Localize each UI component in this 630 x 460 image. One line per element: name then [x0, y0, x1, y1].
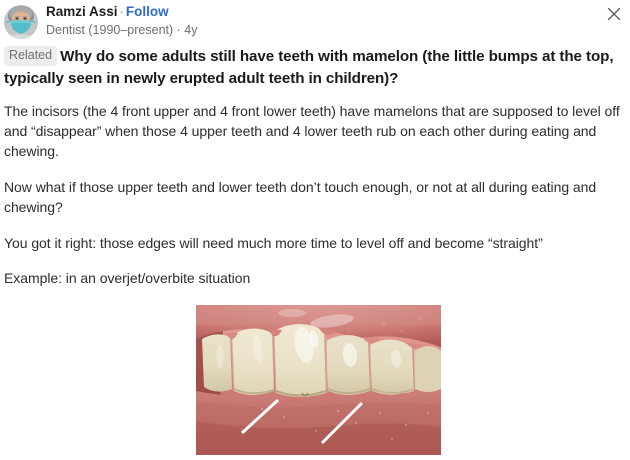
avatar[interactable]: [4, 5, 38, 39]
answer-content: RelatedWhy do some adults still have tee…: [0, 46, 630, 455]
name-separator: ·: [118, 4, 126, 19]
close-icon[interactable]: [606, 6, 622, 22]
author-name[interactable]: Ramzi Assi: [46, 4, 118, 19]
author-credential: Dentist (1990–present) · 4y: [46, 23, 197, 37]
question-title[interactable]: Why do some adults still have teeth with…: [4, 48, 613, 87]
name-line: Ramzi Assi·Follow: [46, 4, 197, 20]
photo-wrap: [4, 305, 624, 455]
question-block[interactable]: RelatedWhy do some adults still have tee…: [4, 46, 624, 89]
dental-photo[interactable]: [196, 305, 441, 455]
post-header: Ramzi Assi·Follow Dentist (1990–present)…: [0, 0, 630, 40]
quora-answer-card: Ramzi Assi·Follow Dentist (1990–present)…: [0, 0, 630, 460]
answer-paragraph-4: Example: in an overjet/overbite situatio…: [4, 269, 624, 289]
follow-link[interactable]: Follow: [126, 4, 169, 19]
related-badge: Related: [4, 46, 57, 66]
answer-paragraph-1: The incisors (the 4 front upper and 4 fr…: [4, 102, 624, 162]
answer-paragraph-3: You got it right: those edges will need …: [4, 234, 624, 254]
identity-block: Ramzi Assi·Follow Dentist (1990–present)…: [46, 4, 197, 37]
answer-paragraph-2: Now what if those upper teeth and lower …: [4, 178, 624, 218]
